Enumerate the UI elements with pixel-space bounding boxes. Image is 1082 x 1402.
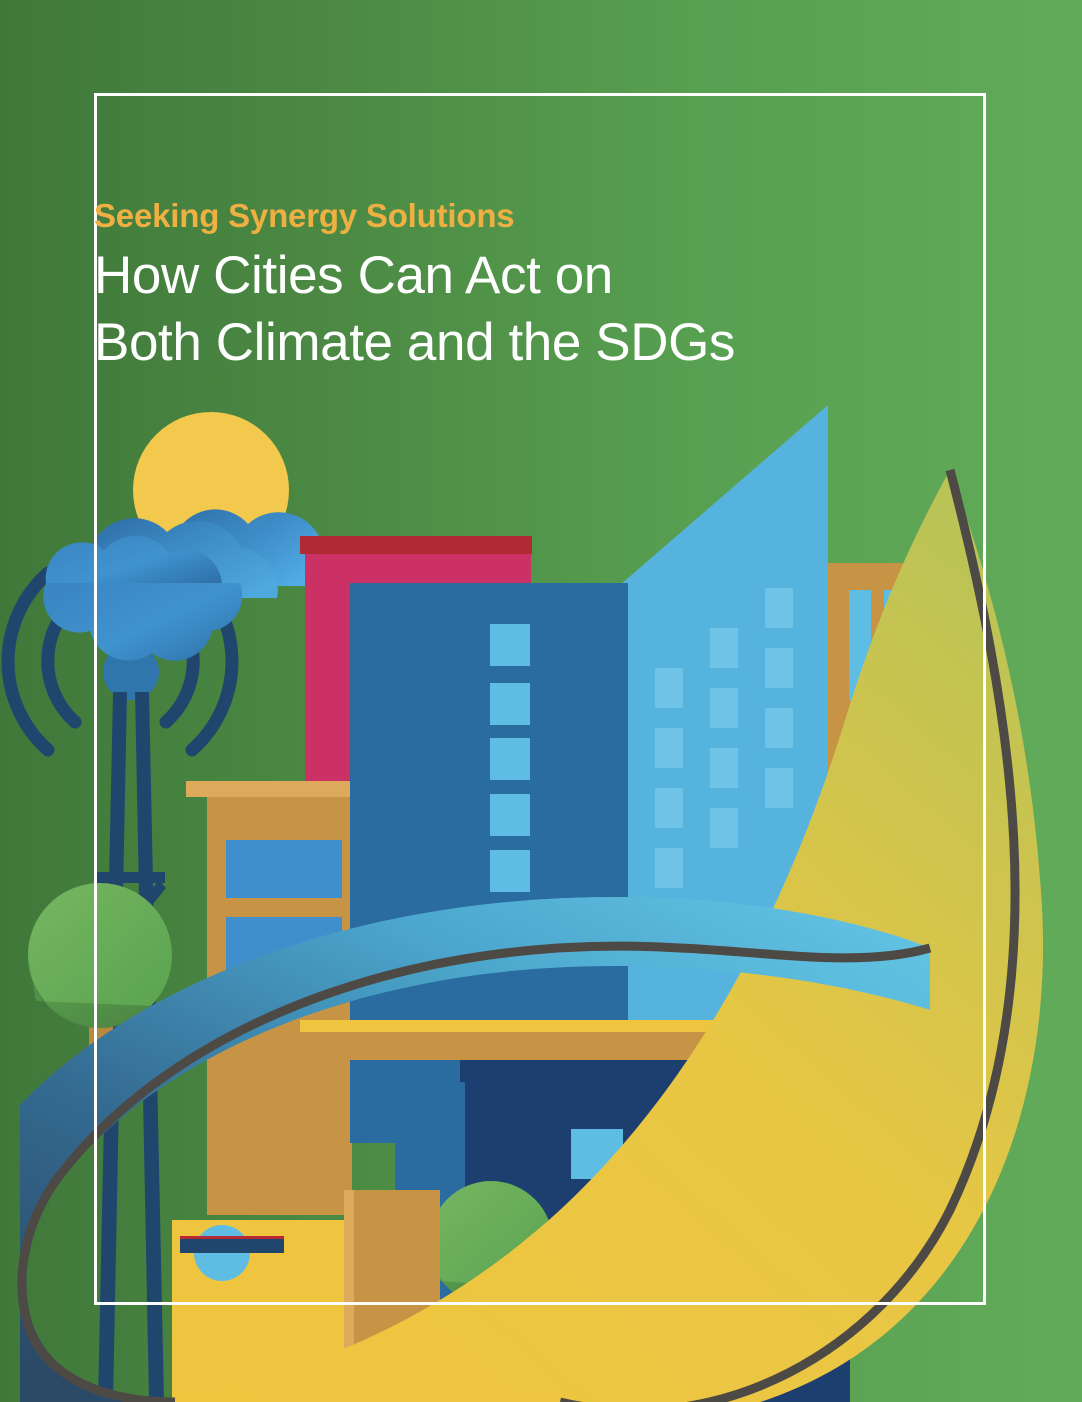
cover-title-block: Seeking Synergy Solutions How Cities Can…	[94, 196, 854, 377]
page-title-line-2: Both Climate and the SDGs	[94, 309, 854, 377]
tan-building-cap	[186, 781, 352, 797]
blue-tower-windows	[490, 624, 530, 892]
page-title: How Cities Can Act on Both Climate and t…	[94, 242, 854, 378]
pink-building-cap	[300, 536, 532, 554]
series-eyebrow-label: Seeking Synergy Solutions	[94, 196, 854, 236]
report-cover-page: Seeking Synergy Solutions How Cities Can…	[0, 0, 1082, 1402]
page-title-line-1: How Cities Can Act on	[94, 242, 854, 310]
